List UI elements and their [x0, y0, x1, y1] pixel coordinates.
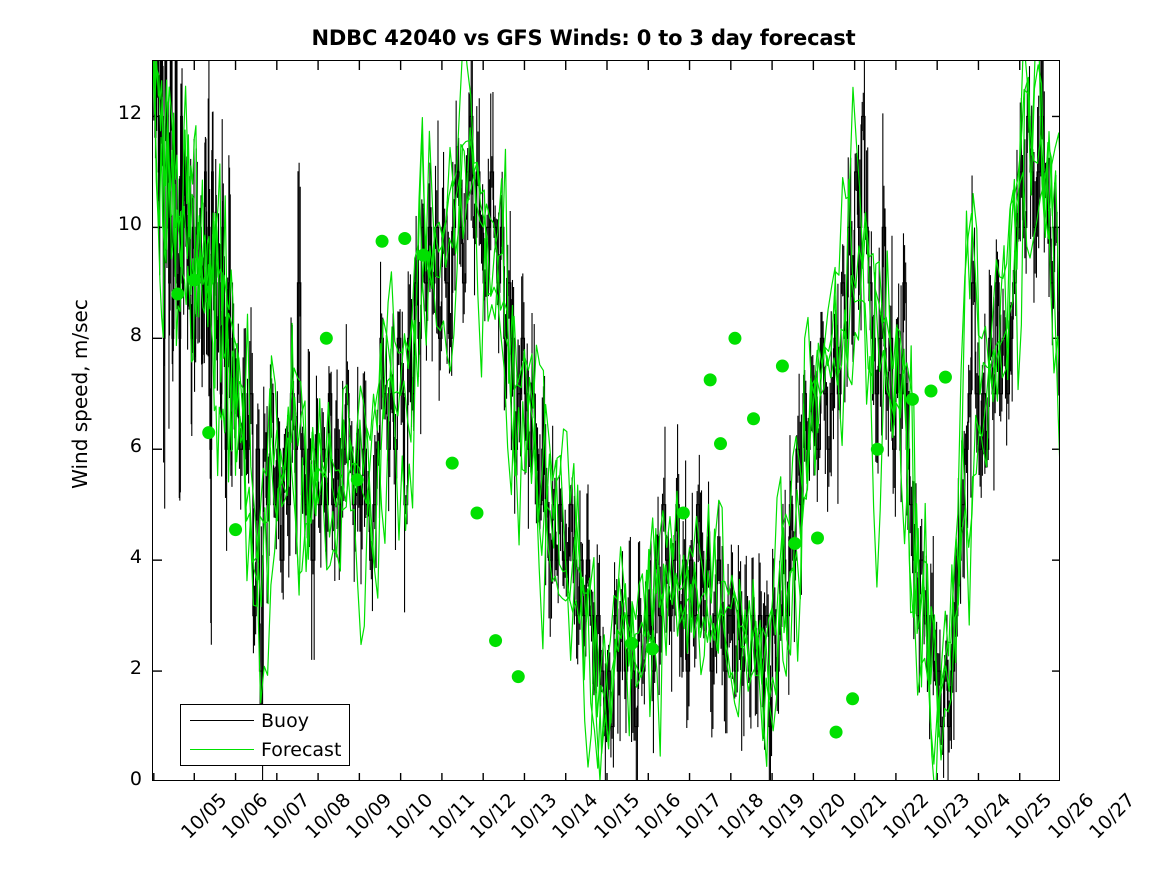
- x-tick-label: 10/10: [383, 789, 437, 843]
- x-tick-label: 10/14: [548, 789, 602, 843]
- x-tick-label: 10/18: [714, 789, 768, 843]
- x-tick-label: 10/16: [631, 789, 685, 843]
- legend-label-forecast: Forecast: [261, 739, 341, 762]
- legend-item-buoy: Buoy: [181, 707, 351, 735]
- figure-canvas: NDBC 42040 vs GFS Winds: 0 to 3 day fore…: [0, 0, 1167, 875]
- x-tick-label: 10/20: [796, 789, 850, 843]
- x-tick-label: 10/07: [260, 789, 314, 843]
- x-tick-label: 10/27: [1085, 789, 1139, 843]
- x-tick-label: 10/19: [755, 789, 809, 843]
- x-tick-label: 10/24: [961, 789, 1015, 843]
- x-tick-label: 10/26: [1044, 789, 1098, 843]
- x-tick-label: 10/12: [466, 789, 520, 843]
- x-tick-label: 10/09: [342, 789, 396, 843]
- x-tick-label: 10/21: [837, 789, 891, 843]
- x-tick-label: 10/06: [218, 789, 272, 843]
- x-tick-label: 10/11: [425, 789, 479, 843]
- x-tick-label: 10/05: [177, 789, 231, 843]
- legend-swatch-buoy: [190, 720, 254, 721]
- legend-item-forecast: Forecast: [181, 736, 351, 764]
- legend-label-buoy: Buoy: [261, 710, 309, 733]
- x-axis-tick-labels: 10/0510/0610/0710/0810/0910/1010/1110/12…: [0, 0, 1167, 875]
- x-tick-label: 10/17: [672, 789, 726, 843]
- x-tick-label: 10/23: [920, 789, 974, 843]
- x-tick-label: 10/25: [1002, 789, 1056, 843]
- legend: Buoy Forecast: [180, 704, 350, 766]
- x-tick-label: 10/13: [507, 789, 561, 843]
- legend-swatch-forecast: [190, 749, 254, 750]
- x-tick-label: 10/15: [590, 789, 644, 843]
- x-tick-label: 10/08: [301, 789, 355, 843]
- x-tick-label: 10/22: [879, 789, 933, 843]
